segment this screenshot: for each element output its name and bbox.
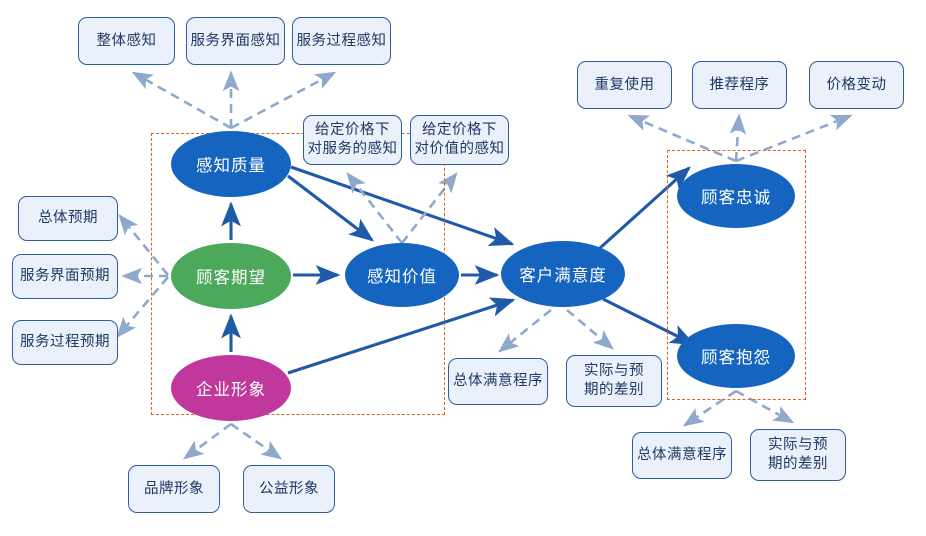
node-perceived-value[interactable]: 感知价值 <box>345 243 459 307</box>
edge-corporate-image-to-public-welfare-image <box>231 424 280 458</box>
box-overall-expectation[interactable]: 总体预期 <box>18 196 118 241</box>
box-recommend-program[interactable]: 推荐程序 <box>692 61 787 109</box>
box-overall-satisfaction-bottom[interactable]: 总体满意程序 <box>632 432 732 479</box>
node-customer-complaint[interactable]: 顾客抱怨 <box>677 324 795 388</box>
box-service-interface-expectation[interactable]: 服务界面预期 <box>12 254 118 299</box>
box-line-2: 期的差别 <box>584 381 644 400</box>
edge-customer-satisfaction-to-overall-satisfaction-mid <box>500 310 551 351</box>
box-repeat-use[interactable]: 重复使用 <box>577 61 672 109</box>
node-customer-expectation[interactable]: 顾客期望 <box>171 243 291 309</box>
box-price-change[interactable]: 价格变动 <box>809 61 904 109</box>
box-brand-image[interactable]: 品牌形象 <box>128 465 220 513</box>
edge-corporate-image-to-brand-image <box>185 424 231 458</box>
box-line-2: 对服务的感知 <box>308 140 398 159</box>
box-overall-perception[interactable]: 整体感知 <box>78 17 175 65</box>
box-service-interface-perception[interactable]: 服务界面感知 <box>186 17 285 65</box>
node-corporate-image[interactable]: 企业形象 <box>171 355 291 421</box>
node-customer-satisfaction[interactable]: 客户满意度 <box>501 241 625 307</box>
node-perceived-quality[interactable]: 感知质量 <box>171 131 291 197</box>
box-service-process-perception[interactable]: 服务过程感知 <box>292 17 391 65</box>
box-line-1: 实际与预 <box>584 362 644 381</box>
edge-perceived-quality-to-overall-perception <box>134 73 231 128</box>
box-line-2: 对价值的感知 <box>415 140 505 159</box>
box-line-1: 给定价格下 <box>308 121 398 140</box>
box-line-1: 给定价格下 <box>415 121 505 140</box>
diagram-canvas: 感知质量 顾客期望 企业形象 感知价值 客户满意度 顾客忠诚 顾客抱怨 整体感知… <box>0 0 926 536</box>
box-actual-vs-expected-bottom[interactable]: 实际与预 期的差别 <box>750 429 846 481</box>
node-customer-loyalty[interactable]: 顾客忠诚 <box>677 164 795 228</box>
box-service-process-expectation[interactable]: 服务过程预期 <box>12 320 118 365</box>
box-price-value-perception[interactable]: 给定价格下 对价值的感知 <box>410 115 509 165</box>
box-actual-vs-expected-mid[interactable]: 实际与预 期的差别 <box>566 355 662 407</box>
box-overall-satisfaction-mid[interactable]: 总体满意程序 <box>448 358 548 405</box>
box-price-service-perception[interactable]: 给定价格下 对服务的感知 <box>303 115 402 165</box>
box-line-2: 期的差别 <box>768 455 828 474</box>
edge-customer-satisfaction-to-actual-vs-expected-mid <box>567 310 612 348</box>
box-public-welfare-image[interactable]: 公益形象 <box>243 465 335 513</box>
box-line-1: 实际与预 <box>768 436 828 455</box>
